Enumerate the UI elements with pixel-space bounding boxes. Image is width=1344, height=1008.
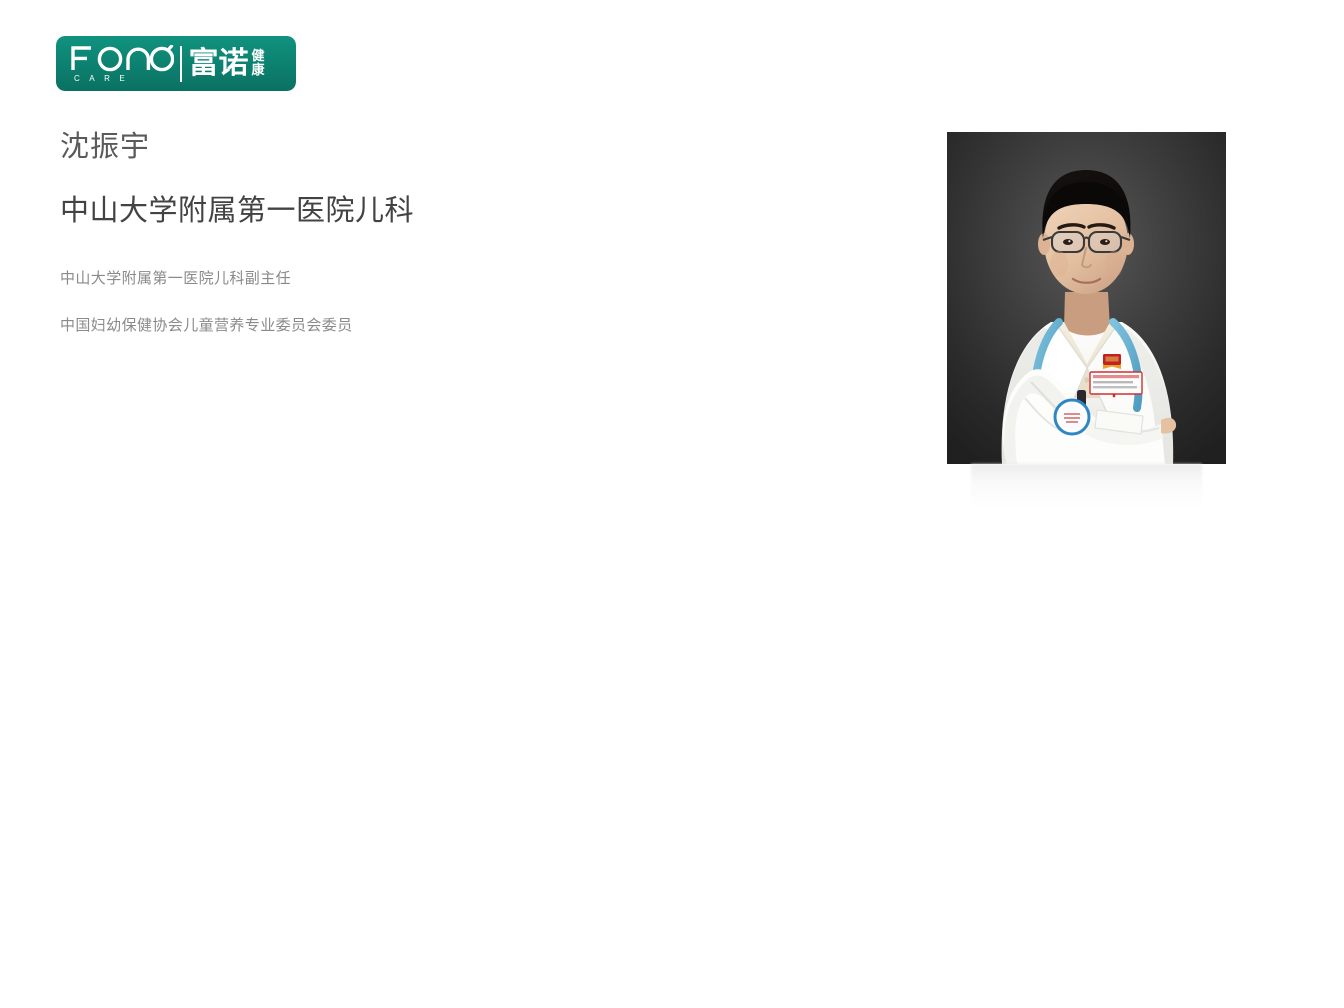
round-work-badge — [1055, 400, 1089, 434]
logo-cn-sub-top: 健 — [252, 50, 265, 64]
logo-cn-main: 富诺 — [189, 49, 249, 79]
credential-item: 中山大学附属第一医院儿科副主任 — [60, 268, 680, 289]
brand-logo[interactable]: CARE 富诺 健 康 — [56, 36, 296, 91]
logo-cn-sub-group: 健 康 — [252, 50, 265, 77]
fono-wordmark-icon — [70, 45, 174, 72]
portrait-illustration — [947, 132, 1226, 464]
doctor-credentials-list: 中山大学附属第一医院儿科副主任 中国妇幼保健协会儿童营养专业委员会委员 — [60, 268, 680, 362]
doctor-portrait-photo — [947, 132, 1226, 464]
doctor-name: 沈振宇 — [60, 129, 150, 163]
name-tag — [1090, 372, 1142, 394]
logo-divider — [180, 46, 182, 82]
logo-tagline: CARE — [70, 74, 178, 83]
doctor-affiliation: 中山大学附属第一医院儿科 — [60, 192, 414, 228]
credential-item: 中国妇幼保健协会儿童营养专业委员会委员 — [60, 315, 680, 336]
logo-cn-sub-bottom: 康 — [252, 64, 265, 78]
doctor-portrait-wrapper — [947, 132, 1226, 464]
logo-wordmark-group: CARE — [70, 45, 178, 83]
portrait-reflection — [971, 464, 1202, 508]
